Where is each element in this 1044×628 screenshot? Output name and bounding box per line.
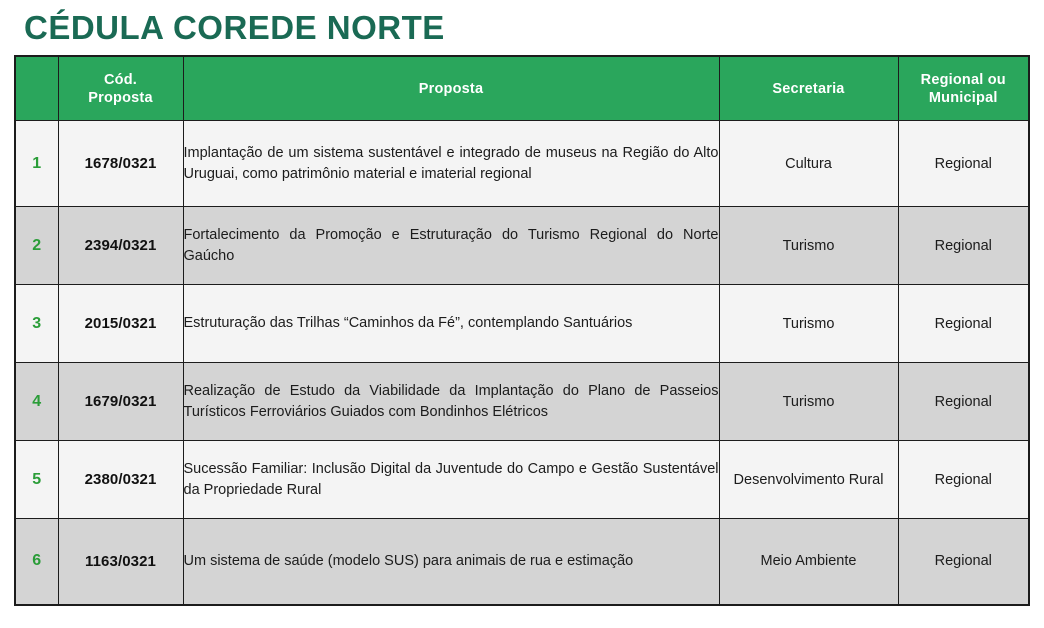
cell-index: 4 (15, 363, 58, 441)
column-header-regional-line1: Regional ou (921, 72, 1006, 88)
table-body: 1 1678/0321 Implantação de um sistema su… (15, 121, 1029, 605)
proposals-table-container: Cód. Proposta Proposta Secretaria Region… (14, 55, 1028, 606)
cell-proposta: Estruturação das Trilhas “Caminhos da Fé… (183, 285, 719, 363)
cell-index: 3 (15, 285, 58, 363)
cell-secretaria: Desenvolvimento Rural (719, 441, 898, 519)
page-root: CÉDULA COREDE NORTE Cód. Proposta Propos… (0, 0, 1044, 628)
cell-proposta: Fortalecimento da Promoção e Estruturaçã… (183, 207, 719, 285)
cell-codigo: 1163/0321 (58, 519, 183, 605)
cell-proposta: Um sistema de saúde (modelo SUS) para an… (183, 519, 719, 605)
cell-proposta: Sucessão Familiar: Inclusão Digital da J… (183, 441, 719, 519)
cell-index: 2 (15, 207, 58, 285)
column-header-secretaria: Secretaria (719, 56, 898, 121)
table-row: 5 2380/0321 Sucessão Familiar: Inclusão … (15, 441, 1029, 519)
column-header-index (15, 56, 58, 121)
cell-regional: Regional (898, 285, 1029, 363)
column-header-regional-municipal: Regional ou Municipal (898, 56, 1029, 121)
column-header-regional-line2: Municipal (929, 90, 998, 106)
cell-codigo: 2015/0321 (58, 285, 183, 363)
table-row: 4 1679/0321 Realização de Estudo da Viab… (15, 363, 1029, 441)
cell-index: 5 (15, 441, 58, 519)
cell-secretaria: Cultura (719, 121, 898, 207)
cell-codigo: 2380/0321 (58, 441, 183, 519)
column-header-codigo-line1: Cód. (104, 72, 137, 88)
cell-proposta: Implantação de um sistema sustentável e … (183, 121, 719, 207)
cell-codigo: 1679/0321 (58, 363, 183, 441)
column-header-codigo-proposta: Cód. Proposta (58, 56, 183, 121)
cell-codigo: 2394/0321 (58, 207, 183, 285)
table-row: 3 2015/0321 Estruturação das Trilhas “Ca… (15, 285, 1029, 363)
proposals-table: Cód. Proposta Proposta Secretaria Region… (14, 55, 1030, 606)
cell-regional: Regional (898, 519, 1029, 605)
table-row: 2 2394/0321 Fortalecimento da Promoção e… (15, 207, 1029, 285)
cell-codigo: 1678/0321 (58, 121, 183, 207)
cell-secretaria: Turismo (719, 207, 898, 285)
cell-regional: Regional (898, 363, 1029, 441)
page-title: CÉDULA COREDE NORTE (24, 8, 445, 48)
cell-regional: Regional (898, 121, 1029, 207)
cell-secretaria: Turismo (719, 285, 898, 363)
cell-index: 6 (15, 519, 58, 605)
table-row: 1 1678/0321 Implantação de um sistema su… (15, 121, 1029, 207)
table-header-row: Cód. Proposta Proposta Secretaria Region… (15, 56, 1029, 121)
cell-proposta: Realização de Estudo da Viabilidade da I… (183, 363, 719, 441)
cell-secretaria: Meio Ambiente (719, 519, 898, 605)
cell-secretaria: Turismo (719, 363, 898, 441)
table-row: 6 1163/0321 Um sistema de saúde (modelo … (15, 519, 1029, 605)
cell-regional: Regional (898, 207, 1029, 285)
column-header-proposta: Proposta (183, 56, 719, 121)
cell-regional: Regional (898, 441, 1029, 519)
column-header-codigo-line2: Proposta (88, 90, 152, 106)
table-header: Cód. Proposta Proposta Secretaria Region… (15, 56, 1029, 121)
cell-index: 1 (15, 121, 58, 207)
